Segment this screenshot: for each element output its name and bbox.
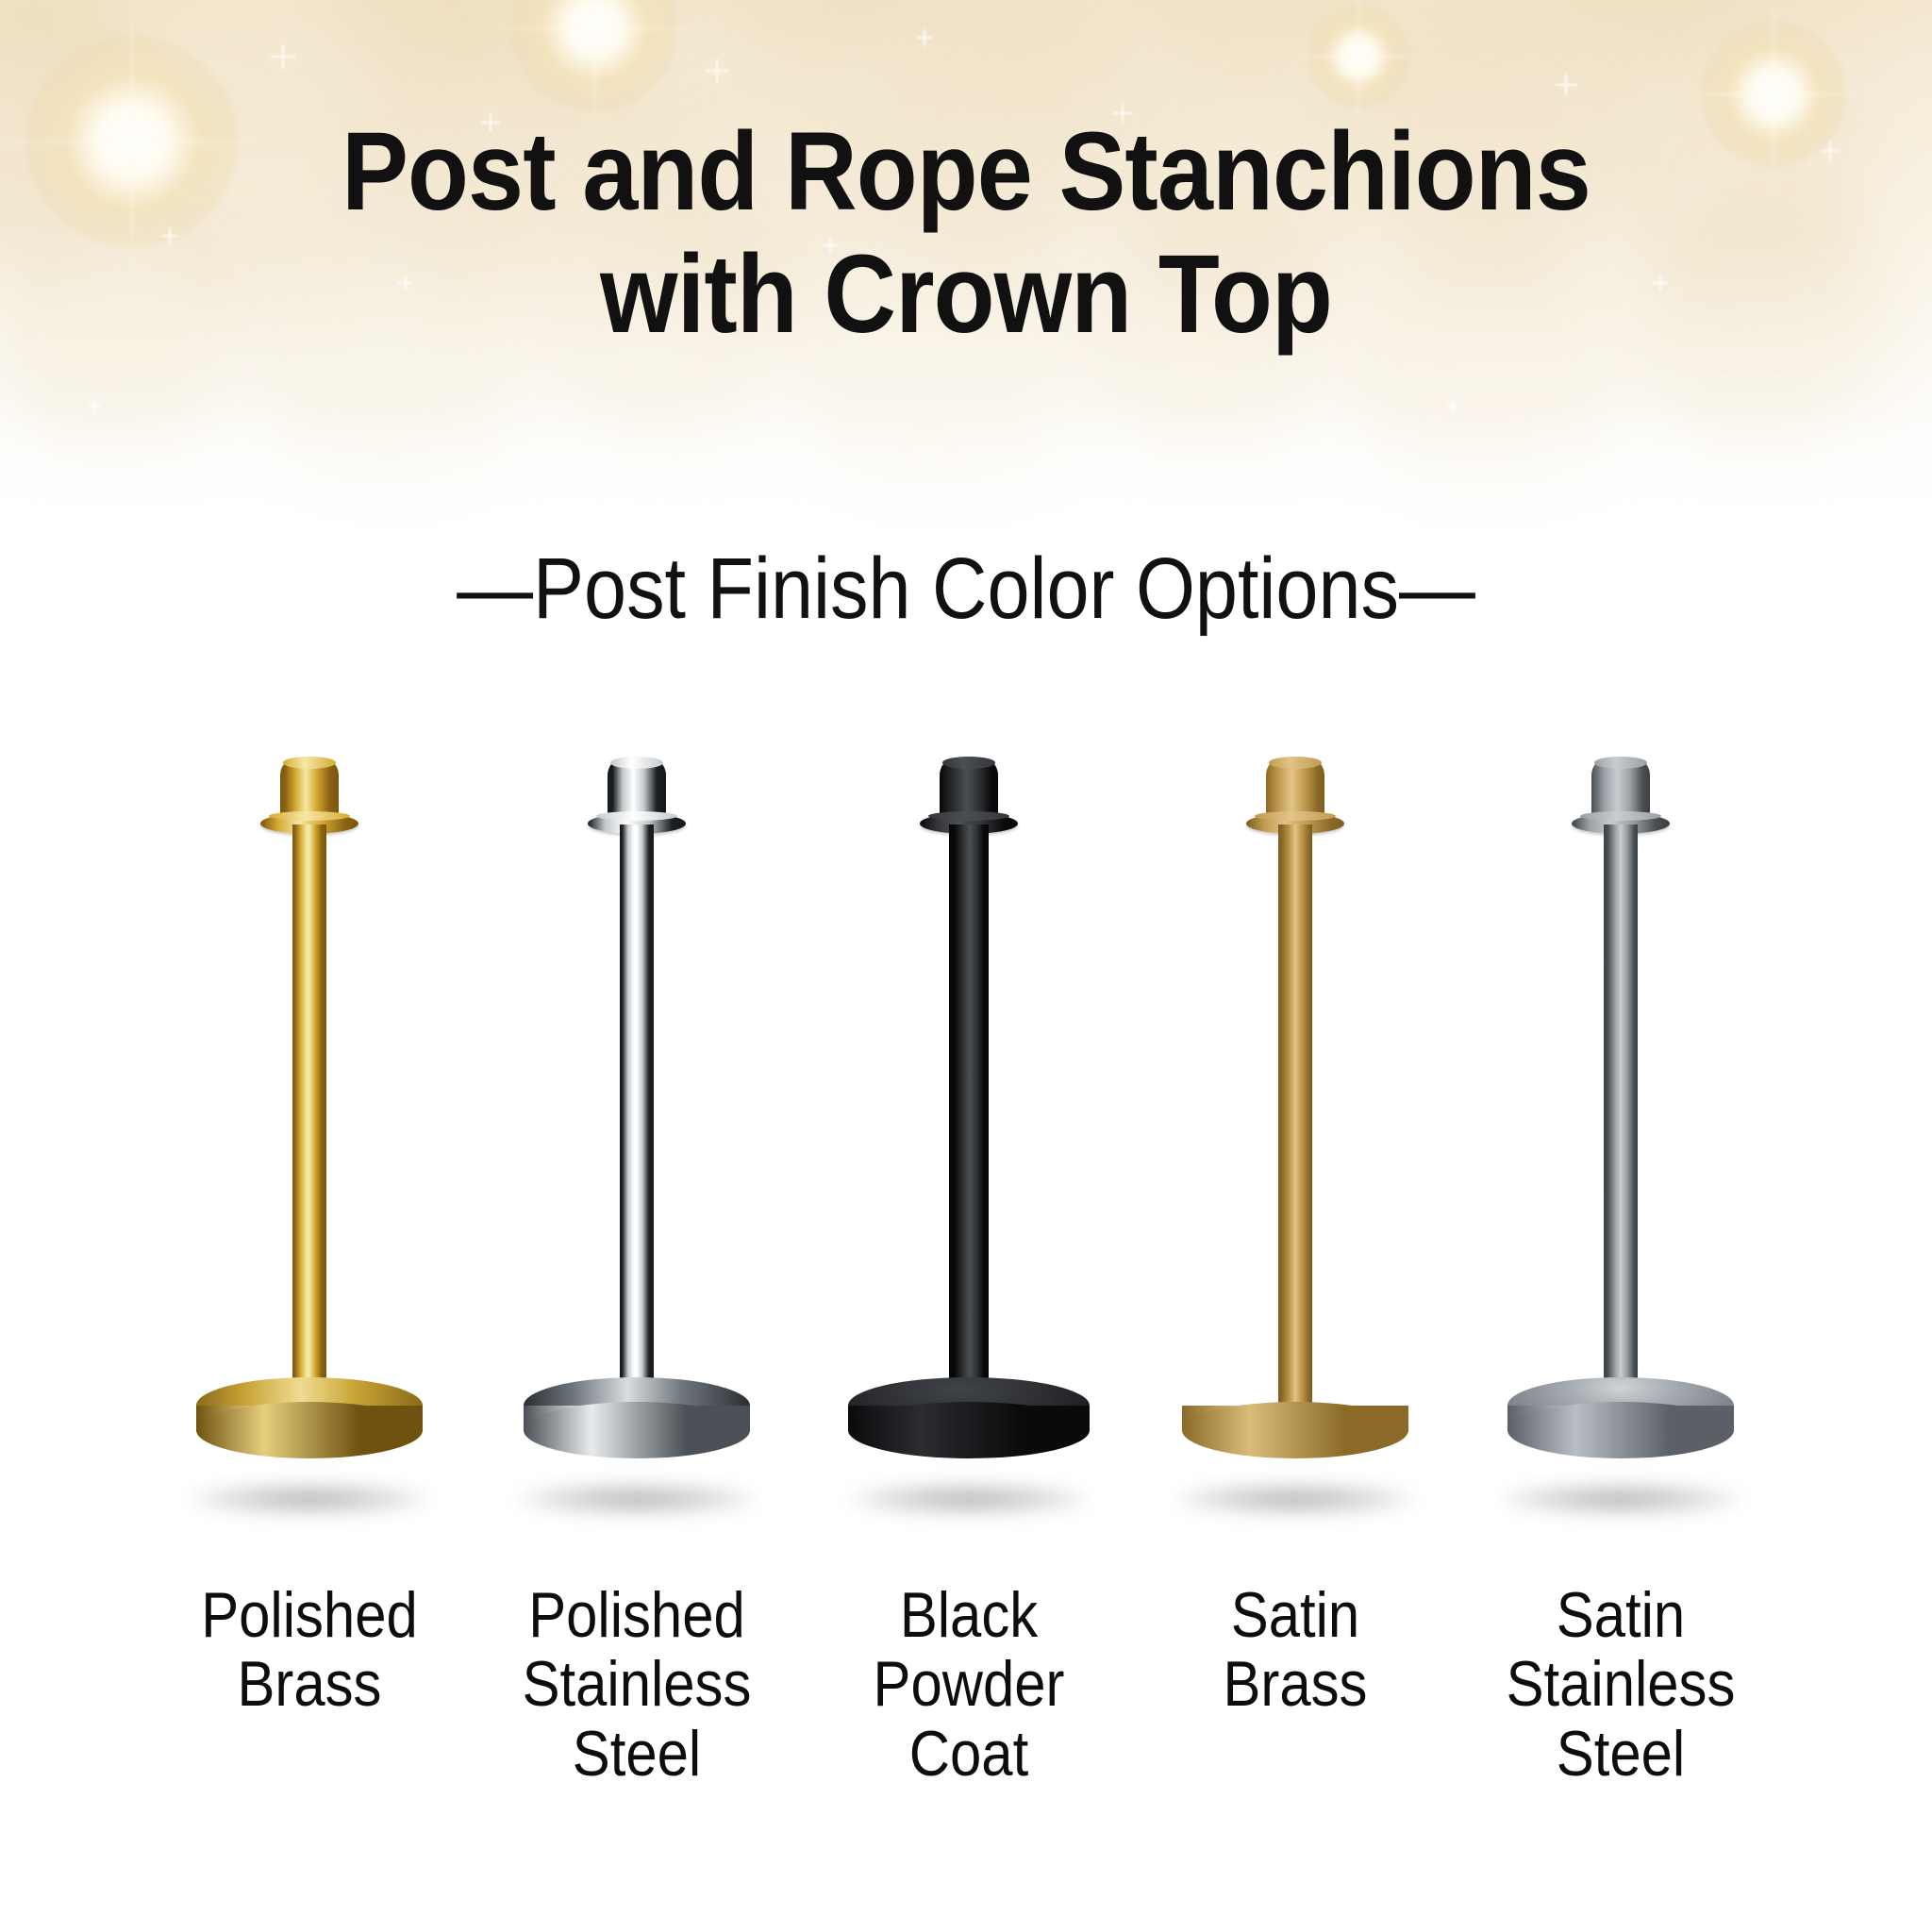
flare-ray bbox=[1665, 93, 1882, 96]
crown-cap bbox=[940, 760, 998, 819]
infographic-page: Post and Rope Stanchions with Crown Top … bbox=[0, 0, 1932, 1932]
crown-cap bbox=[608, 760, 666, 819]
sparkle-star bbox=[916, 29, 933, 46]
collar-lip bbox=[596, 811, 677, 821]
stanchion-graphic bbox=[168, 745, 451, 1528]
stanchion-graphic bbox=[1154, 745, 1437, 1528]
post-base-bottom bbox=[1507, 1402, 1734, 1458]
post-tube bbox=[620, 824, 654, 1404]
bokeh-circle bbox=[1689, 0, 1932, 90]
sparkle-star bbox=[1446, 399, 1459, 412]
sparkle-star bbox=[271, 44, 295, 69]
flare-ray bbox=[541, 0, 646, 81]
crown-cap-top bbox=[1269, 757, 1322, 769]
caption-polished-brass: Polished Brass bbox=[185, 1581, 434, 1720]
sparkle-star bbox=[706, 59, 728, 82]
post-tube bbox=[949, 824, 989, 1404]
stanchion-graphic bbox=[495, 745, 778, 1528]
collar-lip bbox=[928, 811, 1009, 821]
post-shadow bbox=[850, 1483, 1088, 1515]
caption-row: Polished BrassPolished Stainless SteelBl… bbox=[0, 1581, 1932, 1864]
stanchion-satin-brass[interactable] bbox=[1154, 745, 1437, 1528]
crown-cap-top bbox=[610, 757, 663, 769]
stanchion-satin-stainless-steel[interactable] bbox=[1479, 745, 1762, 1528]
post-shadow bbox=[191, 1483, 428, 1515]
flare-ray bbox=[1324, 23, 1392, 91]
stanchion-row bbox=[0, 745, 1932, 1528]
bokeh-circle bbox=[1311, 0, 1651, 94]
crown-cap bbox=[1591, 760, 1650, 819]
post-tube bbox=[1278, 824, 1312, 1404]
bokeh-circle bbox=[1547, 0, 1830, 99]
crown-cap-top bbox=[942, 757, 995, 769]
flare-ray bbox=[1324, 23, 1392, 91]
post-shadow bbox=[1502, 1483, 1740, 1515]
stanchion-graphic bbox=[827, 745, 1110, 1528]
bokeh-circle bbox=[486, 0, 816, 90]
flare-ray bbox=[1283, 56, 1434, 58]
post-tube bbox=[292, 824, 326, 1404]
caption-black-powder-coat: Black Powder Coat bbox=[844, 1581, 1093, 1789]
flare-core bbox=[1307, 6, 1410, 108]
stanchion-polished-brass[interactable] bbox=[168, 745, 451, 1528]
caption-polished-stainless-steel: Polished Stainless Steel bbox=[512, 1581, 761, 1789]
bokeh-circle bbox=[1127, 0, 1420, 108]
flare-ray bbox=[476, 27, 712, 30]
post-tube bbox=[1604, 824, 1638, 1404]
collar-lip bbox=[1580, 811, 1661, 821]
bokeh-circle bbox=[882, 0, 1231, 104]
section-subtitle: —Post Finish Color Options— bbox=[116, 540, 1816, 639]
post-base-bottom bbox=[1182, 1402, 1408, 1458]
collar-lip bbox=[1255, 811, 1336, 821]
caption-satin-brass: Satin Brass bbox=[1171, 1581, 1420, 1720]
collar-lip bbox=[269, 811, 350, 821]
bokeh-circle bbox=[0, 0, 198, 104]
page-title: Post and Rope Stanchions with Crown Top bbox=[96, 111, 1835, 357]
stanchion-polished-stainless-steel[interactable] bbox=[495, 745, 778, 1528]
crown-cap bbox=[280, 760, 339, 819]
stanchion-graphic bbox=[1479, 745, 1762, 1528]
post-base-bottom bbox=[196, 1402, 423, 1458]
bokeh-circle bbox=[708, 0, 991, 94]
post-shadow bbox=[518, 1483, 756, 1515]
caption-satin-stainless-steel: Satin Stainless Steel bbox=[1496, 1581, 1745, 1789]
sparkle-star bbox=[1555, 74, 1577, 96]
crown-cap-top bbox=[1594, 757, 1647, 769]
post-base-bottom bbox=[524, 1402, 750, 1458]
bokeh-circle bbox=[66, 0, 406, 104]
post-shadow bbox=[1176, 1483, 1414, 1515]
crown-cap bbox=[1266, 760, 1324, 819]
flare-core bbox=[511, 0, 677, 111]
flare-ray bbox=[541, 0, 646, 81]
post-base-bottom bbox=[848, 1402, 1090, 1458]
crown-cap-top bbox=[283, 757, 336, 769]
bokeh-circle bbox=[311, 0, 575, 104]
stanchion-black-powder-coat[interactable] bbox=[827, 745, 1110, 1528]
sparkle-star bbox=[88, 399, 101, 412]
